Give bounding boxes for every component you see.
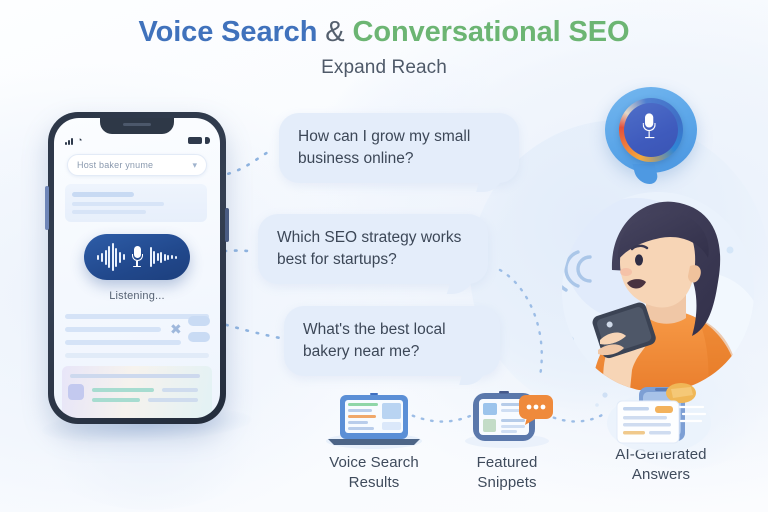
- waveform-icon: [97, 243, 124, 271]
- page-subtitle: Expand Reach: [0, 57, 768, 79]
- phone-notch: [100, 118, 174, 134]
- query-bubble-1: How can I grow my small business online?: [279, 113, 519, 183]
- result-card-placeholder: [65, 184, 207, 222]
- bubble-tail: [447, 274, 475, 294]
- bubble-tail: [459, 365, 487, 385]
- waveform-icon-right: [150, 247, 177, 267]
- search-input-value: Host baker ynume: [77, 160, 192, 170]
- microphone-icon: [132, 246, 143, 268]
- feature-ai-generated-answers: AI-Generated Answers: [581, 375, 741, 485]
- person-illustration: [540, 190, 754, 390]
- listening-status-text: Listening...: [54, 290, 220, 302]
- voice-assistant-badge: [605, 87, 701, 183]
- feature-2-label-line2: Snippets: [427, 473, 587, 493]
- microphone-icon: [642, 113, 660, 147]
- bubble-tail: [476, 172, 504, 192]
- signal-bars-icon: [65, 138, 73, 145]
- title-part-voice-search: Voice Search: [139, 16, 318, 48]
- phone-speaker: [123, 123, 151, 126]
- title-ampersand: &: [325, 16, 344, 48]
- voice-listen-button[interactable]: [84, 234, 190, 280]
- wifi-icon: ◔: [77, 136, 82, 145]
- battery-icon: [188, 137, 202, 144]
- query-bubble-2-text: Which SEO strategy works best for startu…: [277, 229, 461, 268]
- badge-core: [624, 103, 678, 157]
- query-bubble-3-text: What's the best local bakery near me?: [303, 321, 446, 360]
- infographic-canvas: Voice Search & Conversational SEO Expand…: [0, 0, 768, 512]
- featured-snippet-card-icon: [427, 383, 587, 453]
- feature-2-label-line1: Featured: [427, 453, 587, 473]
- phone-screen: ◔ Host baker ynume ▾: [54, 118, 220, 418]
- phone-status-bar: ◔: [54, 134, 220, 148]
- search-input[interactable]: Host baker ynume ▾: [67, 154, 207, 176]
- query-bubble-2: Which SEO strategy works best for startu…: [258, 214, 488, 284]
- badge-color-ring: [619, 98, 683, 162]
- phone-mockup: ◔ Host baker ynume ▾: [48, 112, 226, 424]
- chevron-down-icon[interactable]: ▾: [192, 161, 197, 170]
- person-eye: [635, 254, 643, 265]
- feature-featured-snippets: Featured Snippets: [427, 383, 587, 493]
- battery-tip-icon: [205, 137, 210, 144]
- ai-answer-card-icon: [581, 375, 741, 453]
- feature-2-label: Featured Snippets: [427, 453, 587, 493]
- title-part-conversational-seo: Conversational SEO: [353, 16, 630, 48]
- header: Voice Search & Conversational SEO Expand…: [0, 16, 768, 79]
- query-bubble-3: What's the best local bakery near me?: [284, 306, 500, 376]
- content-placeholder-tinted: [62, 366, 212, 418]
- sparkle-icon: [666, 383, 696, 403]
- page-title: Voice Search & Conversational SEO: [0, 16, 768, 48]
- query-bubble-1-text: How can I grow my small business online?: [298, 128, 470, 167]
- feature-3-label-line2: Answers: [581, 465, 741, 485]
- content-placeholder-chips: ✖: [170, 316, 210, 346]
